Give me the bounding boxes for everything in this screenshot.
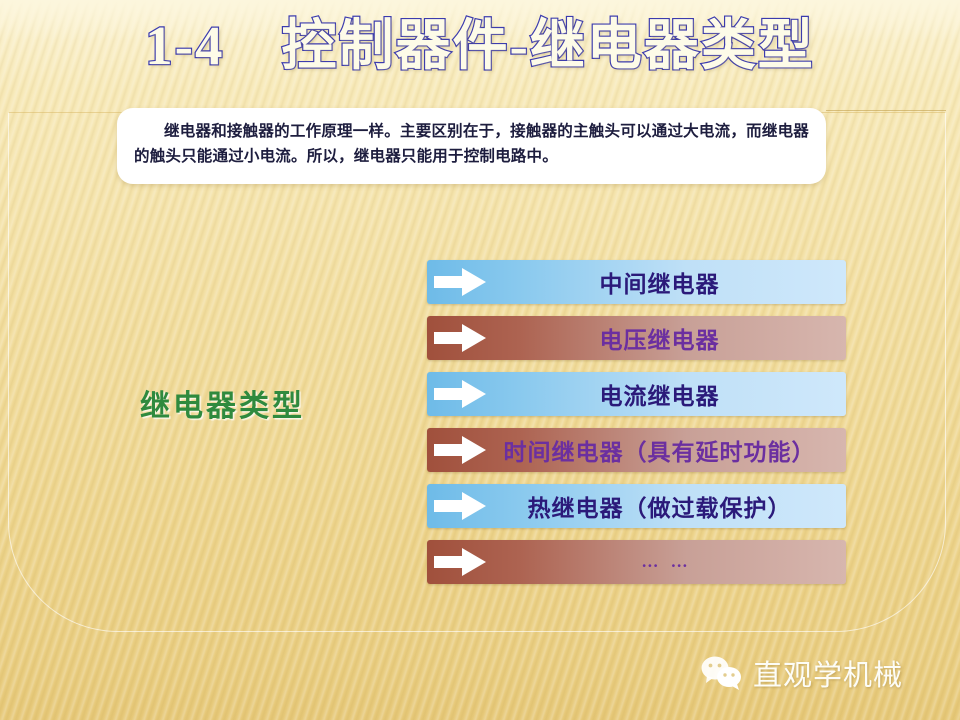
relay-bar-label: 电压继电器 bbox=[427, 316, 846, 360]
note-text: 继电器和接触器的工作原理一样。主要区别在于，接触器的主触头可以通过大电流，而继电… bbox=[134, 119, 809, 169]
relay-bar-label: 中间继电器 bbox=[427, 260, 846, 304]
watermark: 直观学机械 bbox=[700, 652, 903, 694]
page-title: 1-4 控制器件-继电器类型 bbox=[0, 8, 960, 84]
watermark-text: 直观学机械 bbox=[753, 652, 903, 694]
relay-type-label: 继电器类型 bbox=[140, 381, 305, 425]
relay-bar-more[interactable]: … … bbox=[427, 540, 846, 584]
note-box: 继电器和接触器的工作原理一样。主要区别在于，接触器的主触头可以通过大电流，而继电… bbox=[117, 108, 826, 184]
relay-bar-time[interactable]: 时间继电器（具有延时功能） bbox=[427, 428, 846, 472]
relay-type-list: 中间继电器 电压继电器 电流继电器 时间继电器（具有延时功能） 热继电器（做过载 bbox=[427, 260, 846, 596]
wechat-icon bbox=[700, 655, 744, 691]
relay-bar-label: 时间继电器（具有延时功能） bbox=[427, 428, 846, 472]
relay-bar-thermal[interactable]: 热继电器（做过载保护） bbox=[427, 484, 846, 528]
relay-bar-voltage[interactable]: 电压继电器 bbox=[427, 316, 846, 360]
relay-bar-label: 电流继电器 bbox=[427, 372, 846, 416]
relay-bar-current[interactable]: 电流继电器 bbox=[427, 372, 846, 416]
relay-bar-intermediate[interactable]: 中间继电器 bbox=[427, 260, 846, 304]
note-rule-line bbox=[826, 110, 946, 111]
relay-bar-label: 热继电器（做过载保护） bbox=[427, 484, 846, 528]
slide-canvas: 1-4 控制器件-继电器类型 继电器和接触器的工作原理一样。主要区别在于，接触器… bbox=[0, 0, 960, 720]
relay-bar-label: … … bbox=[427, 540, 846, 584]
